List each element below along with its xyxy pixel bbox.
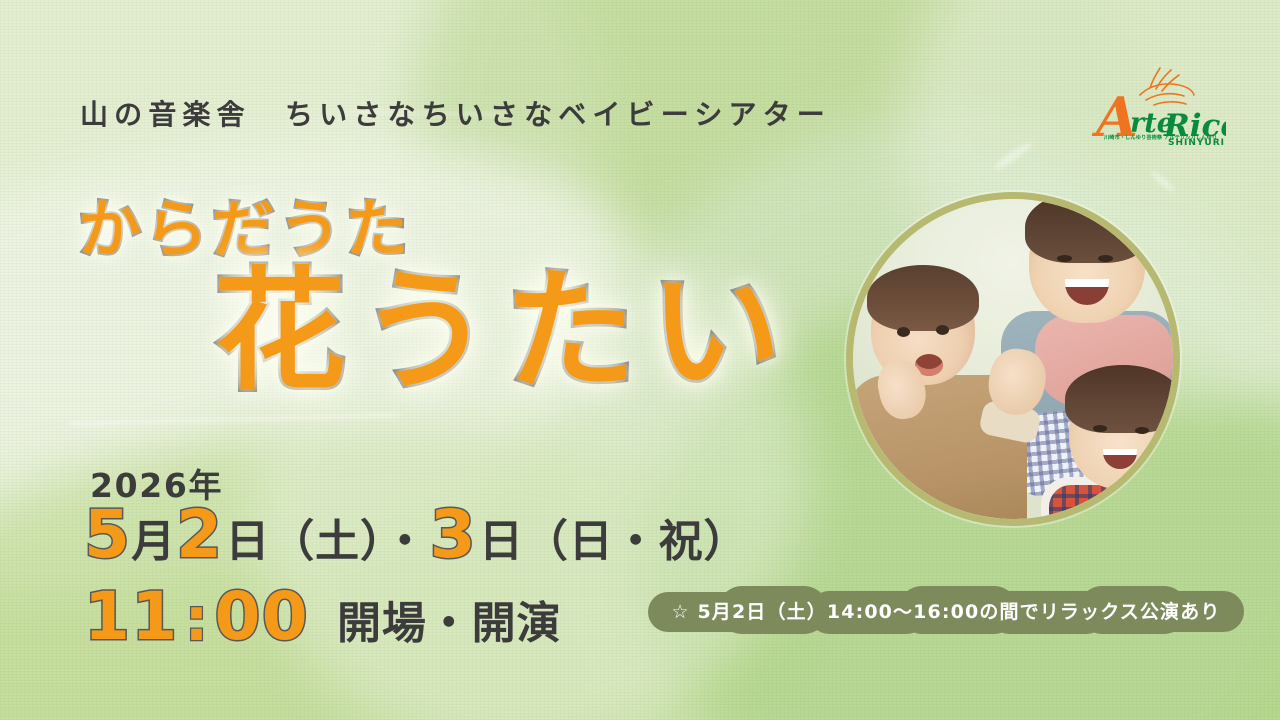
baby-right-eye-right <box>1135 427 1149 434</box>
date-month-number: 5 <box>84 502 131 568</box>
baby-left-eye-right <box>936 325 949 335</box>
event-time-line: 11 : 00 開場・開演 <box>84 584 563 650</box>
date-month-kanji: 月 <box>131 520 176 568</box>
date-day1-number: 2 <box>176 502 223 568</box>
arte-ricca-logo: A rte Ricca SHINYURI 川崎市・しんゆり芸術祭 アルテリッカし… <box>1076 58 1226 158</box>
baby-left-eye-left <box>897 327 910 337</box>
title-hanautai: 花うたい <box>214 266 795 398</box>
time-colon: : <box>179 590 215 650</box>
poster-canvas: 山の音楽舎 ちいさなちいさなベイビーシアター A rte Ricca SHINY… <box>0 0 1280 720</box>
babies-photo-circle <box>846 192 1180 526</box>
header-subtitle: 山の音楽舎 ちいさなちいさなベイビーシアター <box>80 93 831 133</box>
baby-right-plaid-bib <box>1049 485 1173 519</box>
baby-top-eye-right <box>1098 255 1113 262</box>
date-day2-kanji: 日（日・祝） <box>477 520 750 568</box>
baby-top-hair <box>1025 199 1149 263</box>
baby-top-eye-left <box>1057 255 1072 262</box>
logo-subtitle-jp: 川崎市・しんゆり芸術祭 アルテリッカしんゆり <box>1104 134 1217 141</box>
babies-photo <box>853 199 1173 519</box>
event-date-line: 5 月 2 日（土）・ 3 日（日・祝） <box>84 502 750 568</box>
baby-right-eye-left <box>1093 425 1107 432</box>
banner-notice-text: ☆ 5月2日（土）14:00〜16:00の間でリラックス公演あり <box>648 586 1244 634</box>
time-label: 開場・開演 <box>335 602 563 650</box>
baby-right-hair <box>1065 365 1173 433</box>
time-minute: 00 <box>215 584 310 650</box>
relax-performance-banner: ☆ 5月2日（土）14:00〜16:00の間でリラックス公演あり <box>648 586 1244 634</box>
date-day1-kanji: 日（土）・ <box>223 520 429 568</box>
logo-mark-icon: A rte Ricca SHINYURI <box>1076 58 1226 158</box>
time-hour: 11 <box>84 584 179 650</box>
date-day2-number: 3 <box>430 502 477 568</box>
baby-left-hair <box>867 265 979 331</box>
